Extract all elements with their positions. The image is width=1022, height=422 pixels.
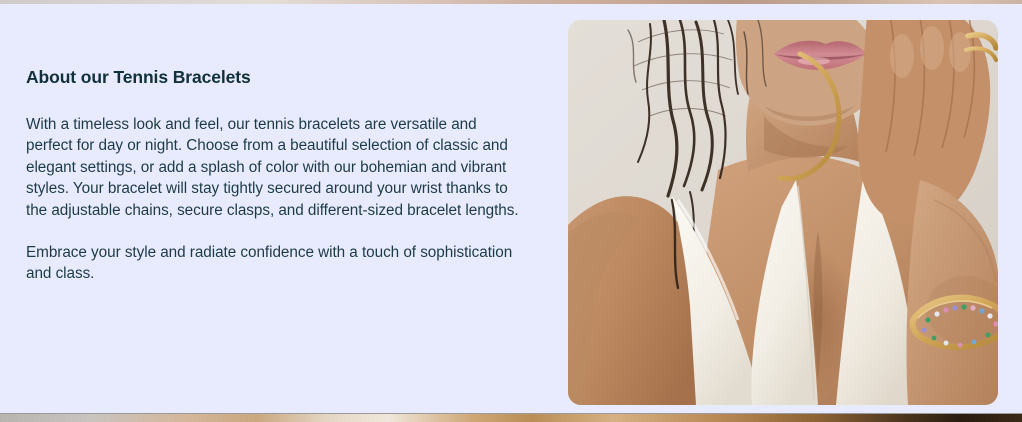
about-paragraph-2: Embrace your style and radiate confidenc… xyxy=(26,242,526,285)
model-photo-illustration xyxy=(568,20,998,405)
about-paragraph-1: With a timeless look and feel, our tenni… xyxy=(26,114,526,221)
previous-section-sliver xyxy=(0,0,1022,4)
page-root: About our Tennis Bracelets With a timele… xyxy=(0,0,1022,422)
model-photo xyxy=(568,20,998,405)
about-text-column: About our Tennis Bracelets With a timele… xyxy=(26,65,526,285)
about-section-panel: About our Tennis Bracelets With a timele… xyxy=(0,3,1022,413)
next-section-sliver xyxy=(0,414,1022,422)
page-title: About our Tennis Bracelets xyxy=(26,65,526,89)
